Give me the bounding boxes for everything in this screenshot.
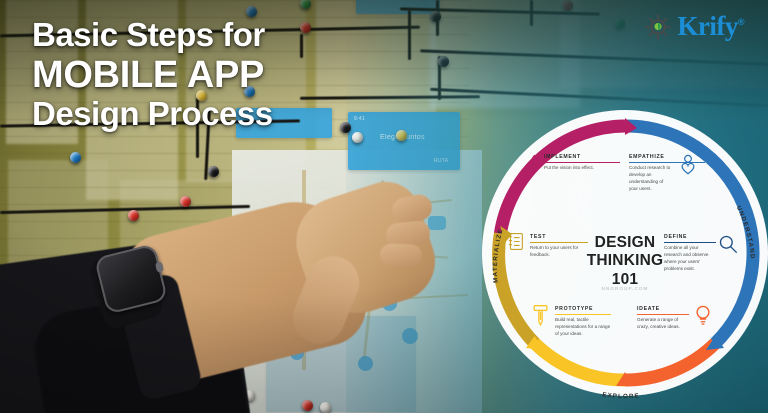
- step-prototype[interactable]: PROTOTYPE Build real, tactile representa…: [555, 306, 611, 338]
- step-rule: [664, 242, 716, 243]
- diagram-source: NNGROUP.COM: [602, 286, 649, 291]
- headline-line-3: Design Process: [32, 97, 362, 132]
- step-description: Put the vision into effect.: [544, 165, 620, 172]
- headline: Basic Steps for MOBILE APP Design Proces…: [32, 18, 362, 132]
- step-title: IDEATE: [637, 306, 689, 312]
- center-line-1: DESIGN: [587, 234, 664, 252]
- banner-image: Santiago 9:41 Elegir puntos RUTA: [0, 0, 768, 413]
- step-ideate[interactable]: IDEATE Generate a range of crazy, creati…: [637, 306, 689, 331]
- rocket-icon: [526, 154, 543, 171]
- step-define[interactable]: DEFINE Combine all your research and obs…: [664, 234, 716, 273]
- step-test[interactable]: TEST Return to your users for feedback.: [530, 234, 588, 259]
- checklist-icon: [508, 232, 524, 251]
- center-line-2: THINKING: [587, 252, 664, 270]
- step-rule: [637, 314, 689, 315]
- person-heart-icon: [678, 154, 698, 176]
- headline-line-2: MOBILE APP: [32, 55, 362, 95]
- step-title: PROTOTYPE: [555, 306, 611, 312]
- lightbulb-icon: [694, 304, 712, 326]
- step-description: Generate a range of crazy, creative idea…: [637, 317, 689, 331]
- krify-logo[interactable]: Krify®: [645, 13, 744, 40]
- logo-trademark: ®: [738, 17, 744, 27]
- step-implement[interactable]: IMPLEMENT Put the vision into effect.: [544, 154, 620, 172]
- logo-wordmark: Krify®: [677, 13, 744, 40]
- hammer-icon: [532, 304, 549, 326]
- step-description: Conduct research to develop an understan…: [629, 165, 673, 193]
- step-title: IMPLEMENT: [544, 154, 620, 160]
- gear-sun-icon: [645, 14, 671, 40]
- step-rule: [555, 314, 611, 315]
- step-title: DEFINE: [664, 234, 716, 240]
- step-description: Build real, tactile representations for …: [555, 317, 611, 338]
- design-thinking-diagram: UNDERSTAND EXPLORE MATERIALIZE DESIGN TH…: [482, 108, 768, 404]
- headline-line-1: Basic Steps for: [32, 18, 362, 53]
- step-description: Return to your users for feedback.: [530, 245, 588, 259]
- diagram-center-title: DESIGN THINKING 101: [587, 234, 664, 289]
- step-title: TEST: [530, 234, 588, 240]
- magnifier-icon: [718, 234, 738, 254]
- step-rule: [530, 242, 588, 243]
- step-rule: [544, 162, 620, 163]
- logo-name: Krify: [677, 11, 737, 41]
- step-description: Combine all your research and observe wh…: [664, 245, 716, 273]
